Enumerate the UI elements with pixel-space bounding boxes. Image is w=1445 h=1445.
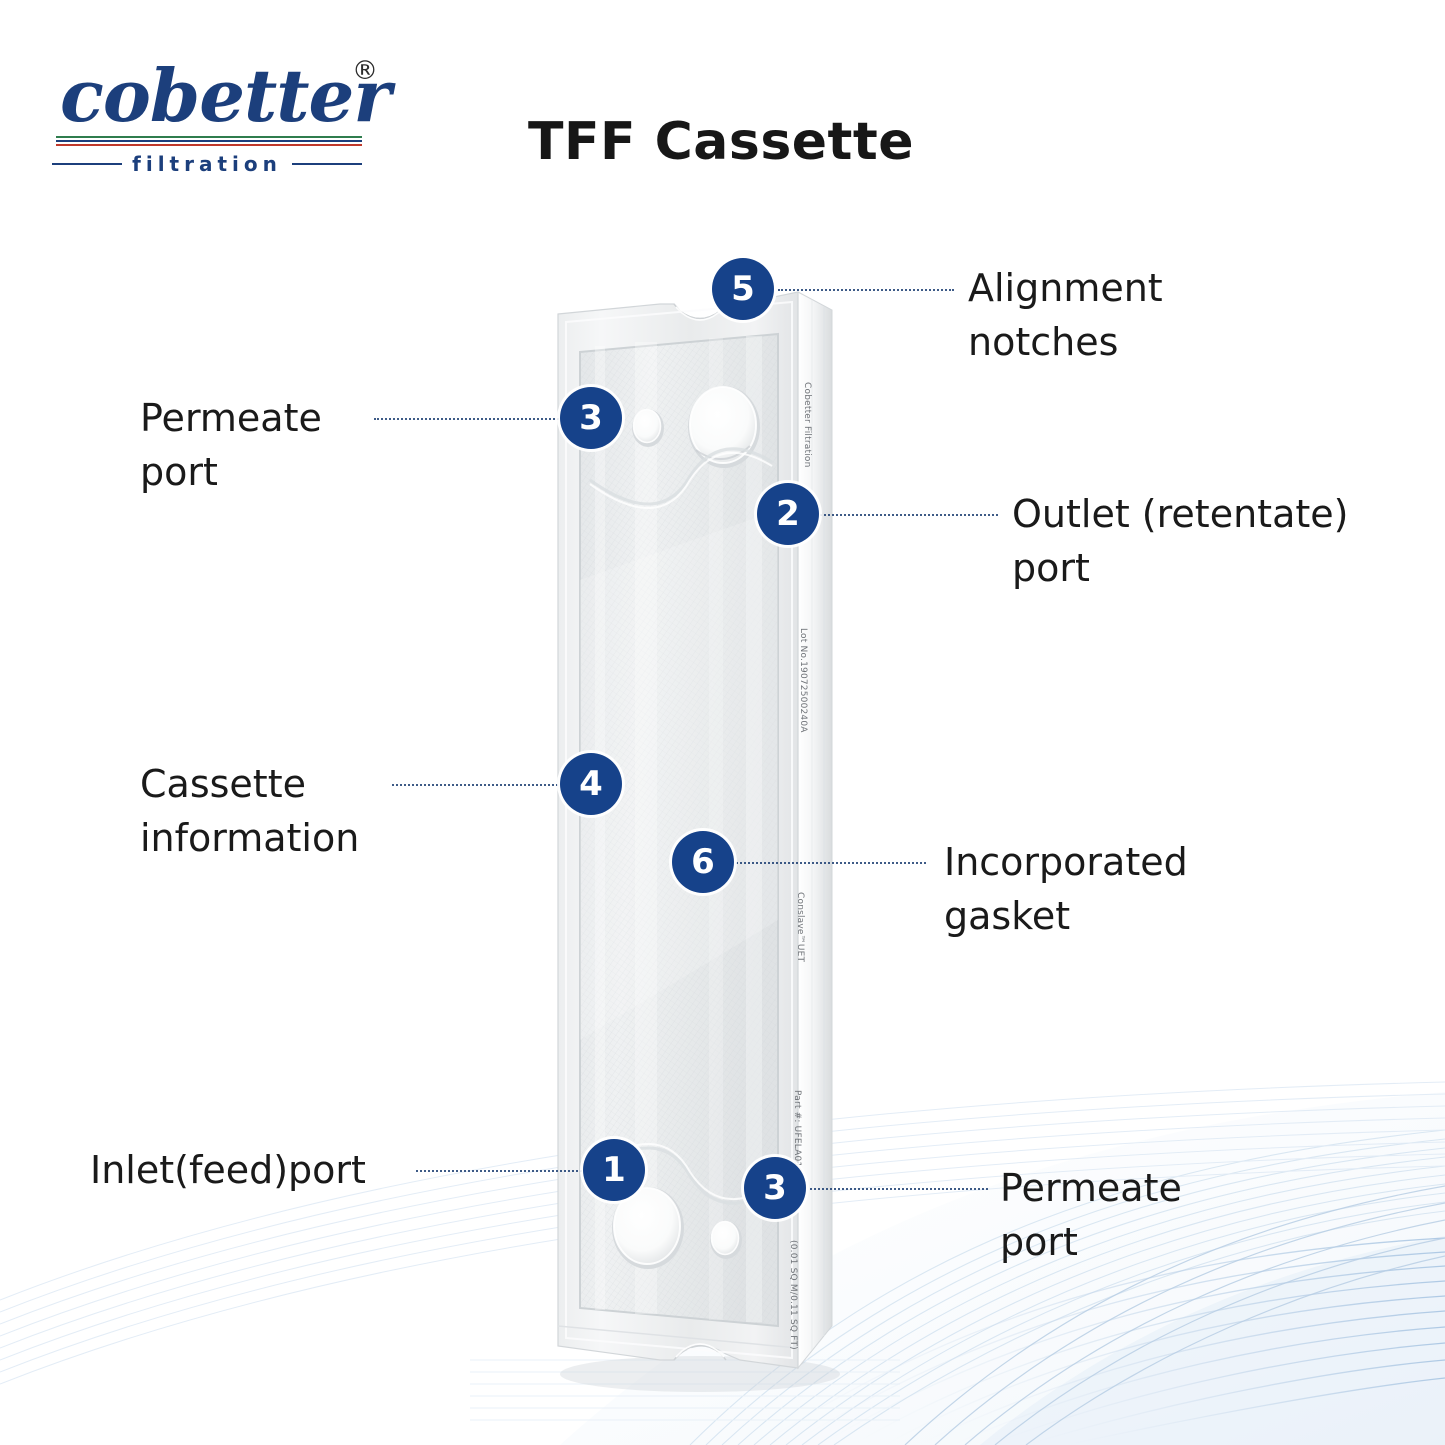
callout-badge-4[interactable]: 4 [560, 753, 622, 815]
cassette-marking-product-line: Conslave™UET [795, 892, 805, 962]
callout-leader-3-bottom [810, 1188, 988, 1190]
callout-label-alignment-notches: Alignment notches [968, 262, 1268, 370]
cassette-marking-lot: Lot No.19072500240A [798, 628, 808, 733]
callout-label-outlet-retentate-port: Outlet (retentate) port [1012, 488, 1404, 596]
tagline-dash-left [52, 163, 122, 165]
callout-label-permeate-port-top: Permeate port [140, 392, 370, 500]
callout-badge-5[interactable]: 5 [712, 258, 774, 320]
brand-logo: cobetter ® filtration [52, 52, 382, 182]
callout-leader-4 [392, 784, 562, 786]
callout-leader-5 [778, 289, 954, 291]
logo-rule-green [56, 136, 362, 138]
logo-rule-blue [56, 140, 362, 142]
page-title: TFF Cassette [528, 112, 914, 172]
callout-badge-6[interactable]: 6 [672, 831, 734, 893]
callout-badge-2[interactable]: 2 [757, 483, 819, 545]
brand-tagline: filtration [132, 152, 282, 176]
logo-rule-red [56, 144, 362, 146]
callout-label-permeate-port-bottom: Permeate port [1000, 1162, 1260, 1270]
callout-badge-3-bottom[interactable]: 3 [744, 1157, 806, 1219]
callout-leader-6 [736, 862, 926, 864]
cassette-marking-membrane-area: (0.01 SQ M/0.11 SQ FT) [788, 1240, 798, 1350]
brand-name: cobetter [60, 60, 390, 132]
callout-leader-3-top [374, 418, 562, 420]
logo-rule-lines [56, 136, 362, 148]
callout-label-inlet-feed-port: Inlet(feed)port [90, 1144, 420, 1198]
callout-badge-1[interactable]: 1 [583, 1139, 645, 1201]
brand-tagline-row: filtration [52, 152, 362, 176]
cassette-marking-brand: Cobetter Filtration [802, 382, 812, 468]
infographic-canvas: cobetter ® filtration TFF Cassette [0, 0, 1445, 1445]
permeate-port-hole-bottom [710, 1221, 742, 1259]
registered-trademark-icon: ® [352, 56, 378, 86]
callout-badge-3-top[interactable]: 3 [560, 387, 622, 449]
callout-leader-2 [820, 514, 998, 516]
callout-label-cassette-information: Cassette information [140, 758, 412, 866]
permeate-port-hole-top [632, 409, 664, 447]
callout-leader-1 [416, 1170, 586, 1172]
callout-label-incorporated-gasket: Incorporated gasket [944, 836, 1244, 944]
tagline-dash-right [292, 163, 362, 165]
